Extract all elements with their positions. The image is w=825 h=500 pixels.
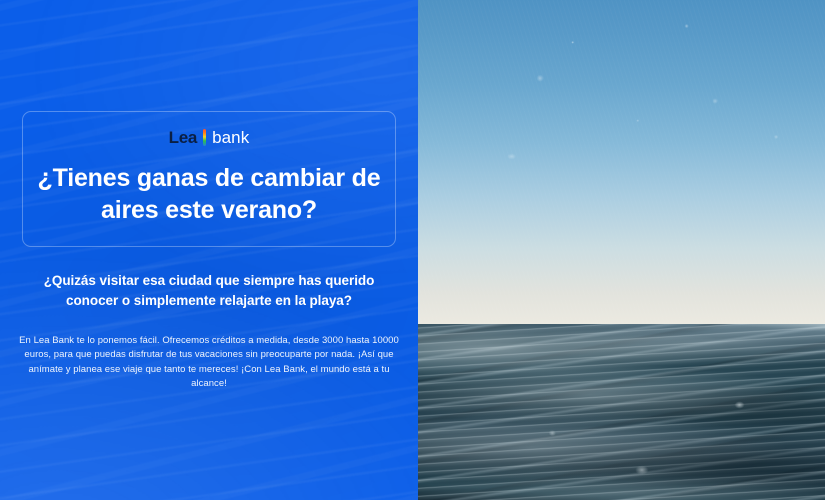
ocean-region [418,324,825,500]
promo-banner: Lea bank ¿Tienes ganas de cambiar de air… [0,0,825,500]
ocean-wave-streaks [418,324,825,500]
promo-subheadline: ¿Quizás visitar esa ciudad que siempre h… [22,271,396,310]
promo-headline: ¿Tienes ganas de cambiar de aires este v… [23,163,395,226]
sky-region [418,0,825,326]
brand-logo[interactable]: Lea bank [169,127,250,147]
brand-name-secondary: bank [212,129,249,146]
sky-grain-overlay [418,0,825,326]
ocean-swell-shading [418,324,825,500]
ocean-foam-spots [418,324,825,500]
ocean-photo-panel [418,0,825,500]
promo-panel: Lea bank ¿Tienes ganas de cambiar de air… [0,0,418,500]
hero-card: Lea bank ¿Tienes ganas de cambiar de air… [22,111,396,247]
gradient-bar-icon [203,129,206,146]
promo-content: Lea bank ¿Tienes ganas de cambiar de air… [0,0,418,500]
brand-name-primary: Lea [169,129,197,146]
promo-body-text: En Lea Bank te lo ponemos fácil. Ofrecem… [18,334,400,392]
